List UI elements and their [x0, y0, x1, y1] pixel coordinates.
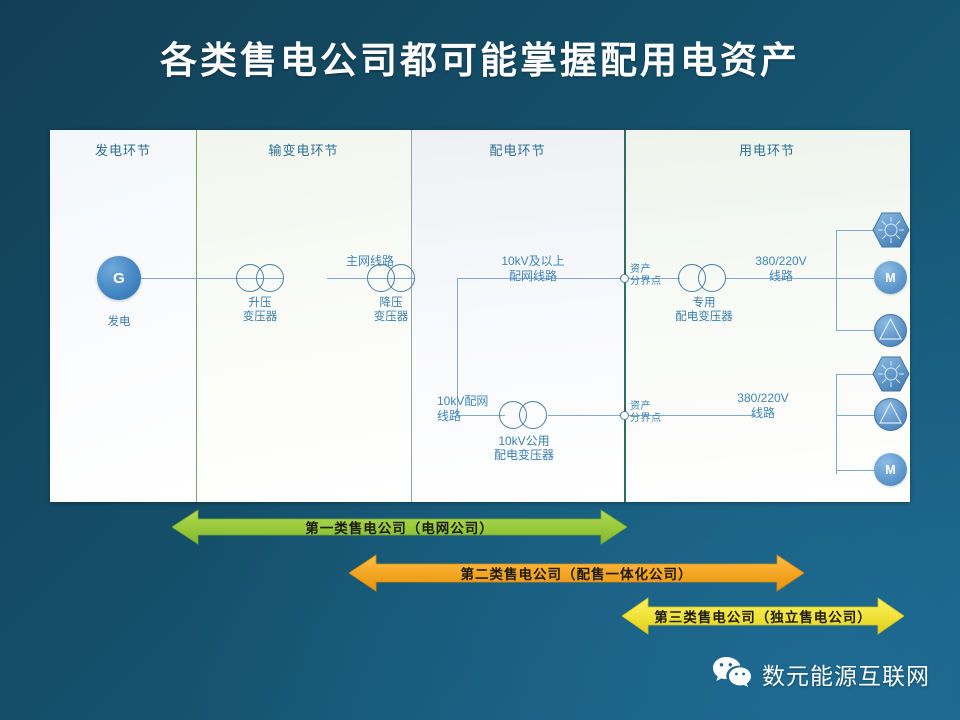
public-transformer-label: 10kV公用 配电变压器 [478, 434, 570, 462]
generator-label: 发电 [77, 315, 161, 329]
column-divider-3 [624, 130, 626, 502]
dedicated-transformer-label: 专用 配电变压器 [658, 296, 750, 324]
watermark-text: 数元能源互联网 [762, 657, 930, 691]
arrow-label-type-3: 第三类售电公司（独立售电公司） [654, 606, 872, 626]
step-up-transformer-label: 升压 变压器 [220, 296, 300, 324]
hv-distribution-line-label: 10kV及以上 配网线路 [458, 254, 608, 284]
step-down-transformer-icon [367, 264, 415, 292]
watermark: 数元能源互联网 [712, 655, 930, 692]
column-title-generation: 发电环节 [50, 140, 196, 159]
arrow-label-type-2: 第二类售电公司（配售一体化公司） [461, 563, 693, 583]
page-title: 各类售电公司都可能掌握配用电资产 [0, 30, 960, 84]
lv-line-lower-label: 380/220V 线路 [703, 391, 823, 421]
load-triangle-upper [874, 314, 907, 347]
column-divider-1 [196, 130, 197, 502]
step-down-transformer-label: 降压 变压器 [351, 296, 431, 324]
load-lamp-hexagon-upper [872, 212, 910, 248]
wire-public-transformer-out [548, 415, 626, 416]
asset-demarcation-point-upper-icon [620, 274, 629, 283]
load-motor-upper: M [874, 261, 907, 294]
generator-node: G [97, 256, 141, 300]
column-title-distribution: 配电环节 [411, 140, 624, 159]
wire-lower-load-motor [836, 470, 874, 471]
lv-line-upper-label: 380/220V 线路 [726, 254, 836, 284]
wire-lower-load-lamp [836, 374, 874, 375]
wire-upper-load-motor [836, 278, 874, 279]
dedicated-transformer-icon [678, 264, 726, 292]
load-lamp-hexagon-lower [872, 356, 910, 392]
load-motor-lower: M [874, 453, 907, 486]
wechat-icon [712, 655, 752, 692]
wire-upper-load-triangle [836, 330, 874, 331]
arrow-bar-type-1: 第一类售电公司（电网公司） [172, 508, 627, 546]
wire-lower-load-bus [836, 374, 837, 474]
asset-demarcation-point-lower-icon [620, 411, 629, 420]
arrow-label-type-1: 第一类售电公司（电网公司） [305, 517, 494, 537]
load-triangle-lower [874, 398, 907, 431]
asset-demarcation-point-lower-label: 资产 分界点 [630, 401, 686, 425]
column-title-consumption: 用电环节 [624, 140, 910, 159]
step-up-transformer-icon [236, 264, 284, 292]
public-transformer-icon [499, 401, 547, 429]
diagram-panel: 发电环节 输变电环节 配电环节 用电环节 G 发电 升压 变压器 主网线路 降压… [50, 130, 910, 502]
wire-upper-load-lamp [836, 230, 874, 231]
wire-lower-load-triangle [836, 415, 874, 416]
column-title-transmission: 输变电环节 [196, 140, 411, 159]
wire-upper-load-bus [836, 230, 837, 330]
arrow-bar-type-2: 第二类售电公司（配售一体化公司） [349, 553, 804, 593]
arrow-bar-type-3: 第三类售电公司（独立售电公司） [622, 596, 904, 636]
